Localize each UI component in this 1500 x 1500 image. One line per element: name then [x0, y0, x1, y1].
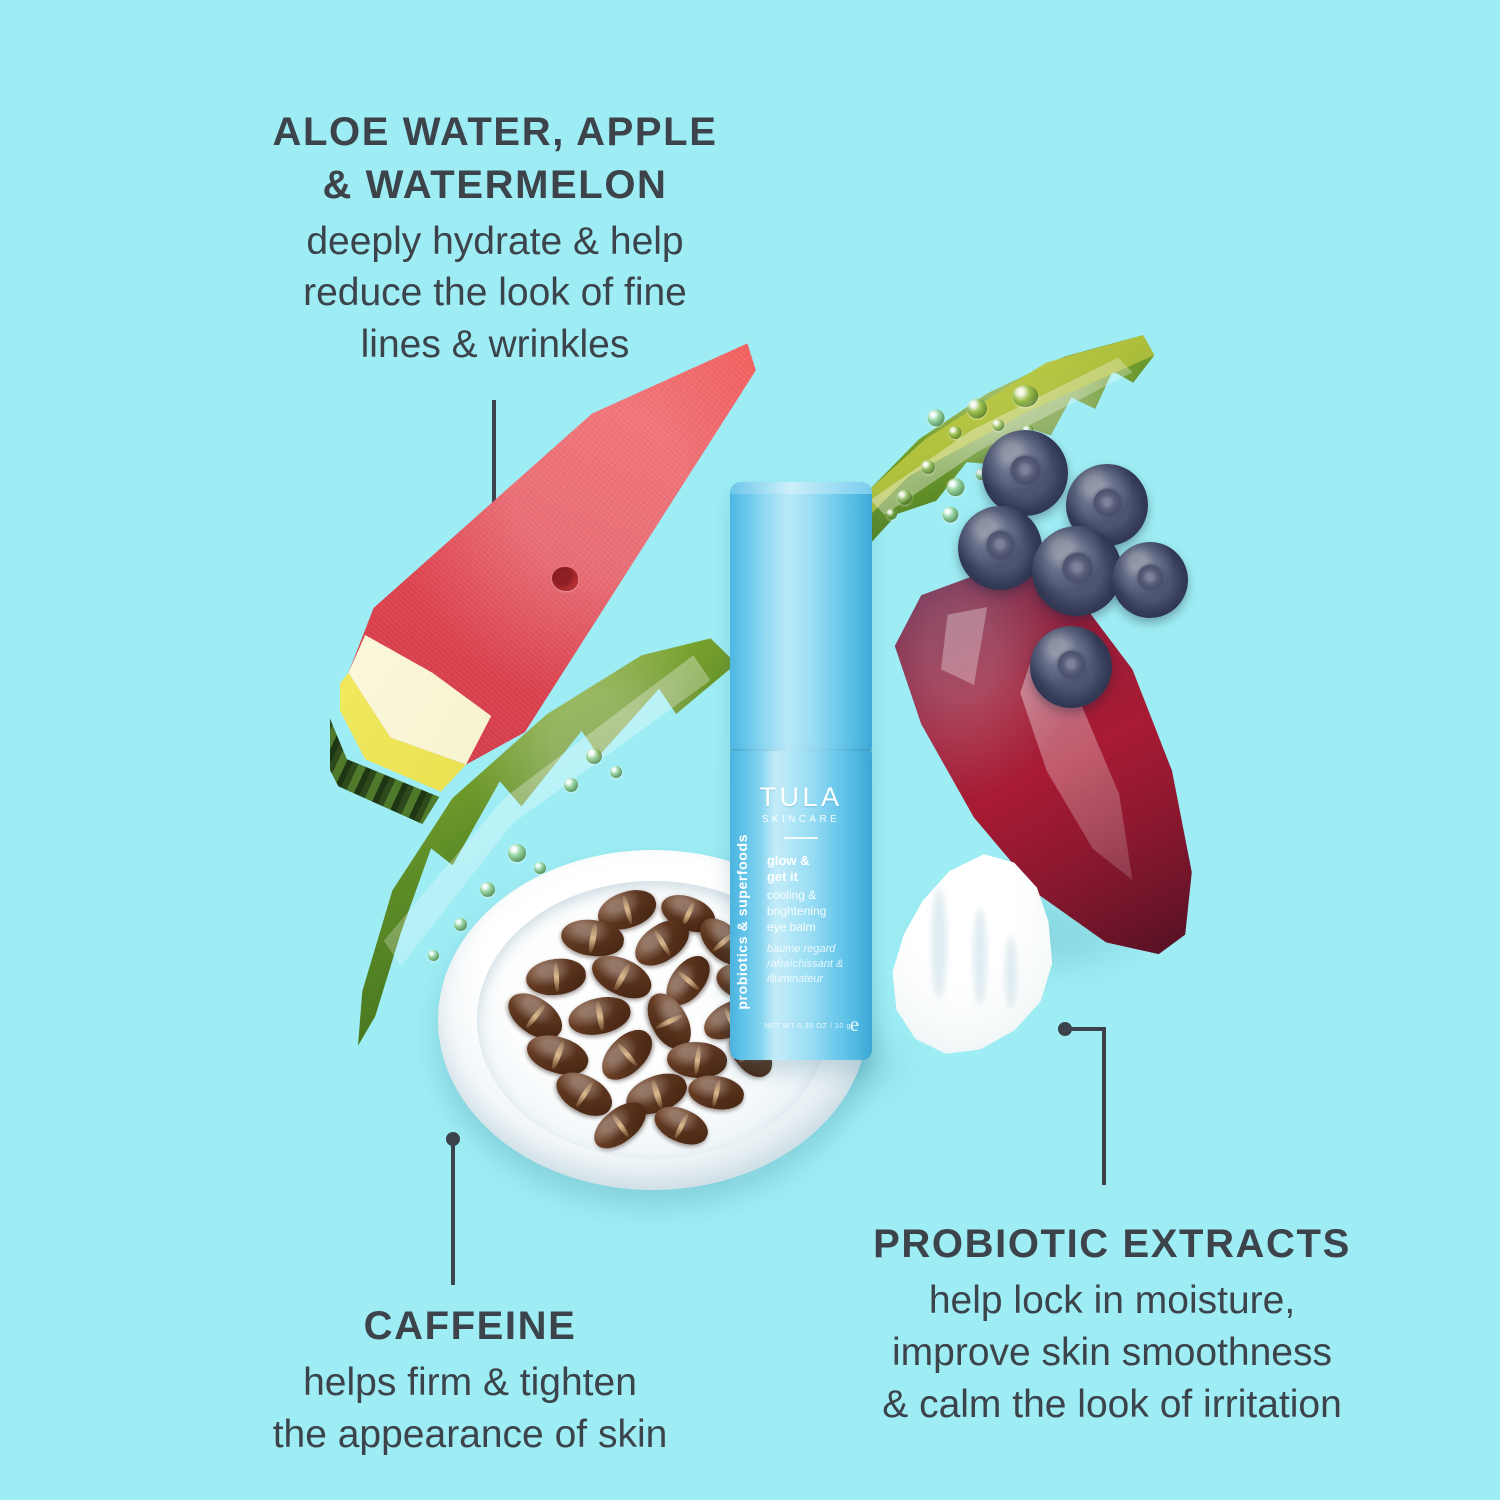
callout-caffeine-body: helps firm & tighten the appearance of s… [200, 1357, 740, 1461]
callout-aloe-heading: ALOE WATER, APPLE & WATERMELON [185, 106, 805, 212]
product-tube-cap [730, 482, 872, 751]
cream-swatch [885, 850, 1075, 1060]
product-brand-subtitle: SKINCARE [730, 814, 872, 825]
product-brand-name: TULA [730, 782, 872, 813]
blueberry [1032, 526, 1122, 616]
product-tube-body: probiotics & superfoods TULA SKINCARE gl… [730, 751, 872, 1060]
water-droplet [946, 478, 965, 497]
cream-swatch-fold [1005, 936, 1017, 1008]
product-tube-cap-top [730, 482, 872, 494]
product-description: cooling & brightening eye balm [767, 888, 864, 935]
product-ingredient-infographic: ALOE WATER, APPLE & WATERMELON deeply hy… [0, 0, 1500, 1500]
ingredient-photo-composition: probiotics & superfoods TULA SKINCARE gl… [330, 330, 1170, 1190]
estimated-sign-icon: e [850, 1012, 859, 1037]
blueberry [982, 430, 1068, 516]
water-droplet [564, 778, 578, 792]
cream-swatch-fold [931, 888, 947, 998]
callout-caffeine: CAFFEINE helps firm & tighten the appear… [200, 1300, 740, 1461]
product-tube[interactable]: probiotics & superfoods TULA SKINCARE gl… [730, 482, 872, 1060]
water-droplet [942, 506, 959, 523]
water-droplet [586, 748, 602, 764]
product-vertical-tagline: probiotics & superfoods [734, 834, 750, 1010]
product-label-divider [784, 837, 818, 839]
product-french-description: baume regard rafraîchissant & illuminate… [767, 942, 866, 986]
blueberry [1112, 542, 1188, 618]
product-net-weight: NET WT 0.35 OZ / 10 g [764, 1021, 851, 1030]
watermelon-seed-hole [552, 567, 578, 591]
product-name: glow & get it [767, 853, 864, 886]
callout-caffeine-heading: CAFFEINE [200, 1300, 740, 1353]
cream-swatch-fold [973, 908, 987, 1004]
callout-probiotic-extracts: PROBIOTIC EXTRACTS help lock in moisture… [812, 1218, 1412, 1430]
water-droplet [886, 508, 898, 520]
callout-probiotic-body: help lock in moisture, improve skin smoo… [812, 1275, 1412, 1431]
blueberry [1030, 626, 1112, 708]
blueberry [958, 506, 1042, 590]
water-droplet [610, 766, 622, 778]
callout-probiotic-heading: PROBIOTIC EXTRACTS [812, 1218, 1412, 1271]
coffee-bean [524, 956, 587, 998]
